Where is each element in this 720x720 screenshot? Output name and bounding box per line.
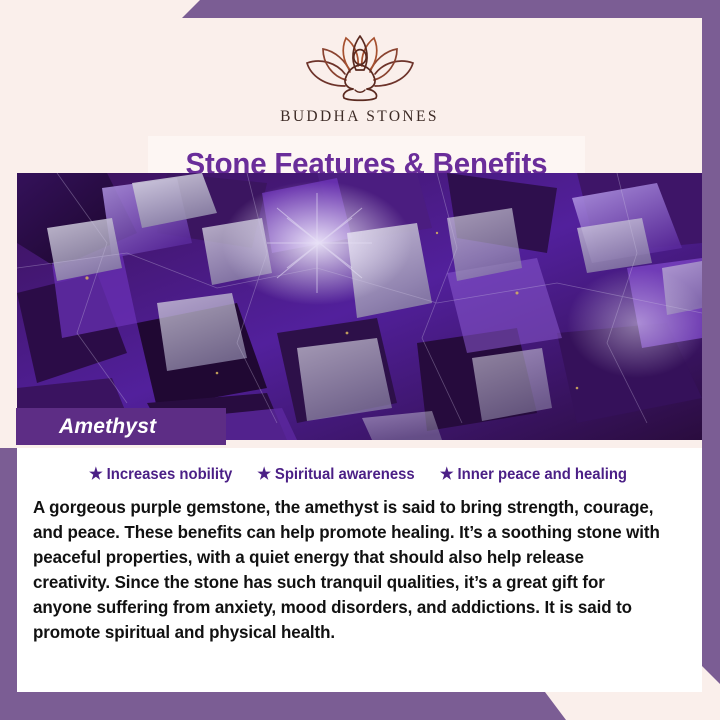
brand-logo: BUDDHA STONES	[17, 30, 702, 126]
benefit-label: Inner peace and healing	[457, 466, 627, 484]
benefits-list: ★ Increases nobility ★ Spiritual awarene…	[33, 458, 684, 484]
benefit-item: ★ Increases nobility	[89, 466, 232, 484]
decor-band-right	[702, 0, 720, 684]
stone-description: A gorgeous purple gemstone, the amethyst…	[33, 495, 661, 645]
decor-band-top	[0, 0, 720, 18]
benefit-item: ★ Inner peace and healing	[440, 466, 627, 484]
star-icon: ★	[440, 467, 454, 483]
benefit-label: Spiritual awareness	[275, 466, 415, 484]
brand-name: BUDDHA STONES	[280, 108, 439, 126]
header: BUDDHA STONES Stone Features & Benefits	[17, 18, 702, 173]
stone-info-card: BUDDHA STONES Stone Features & Benefits	[0, 0, 720, 720]
lotus-meditation-icon	[301, 30, 419, 102]
amethyst-crystal-cluster-graphic	[17, 173, 702, 440]
stone-details-card: ★ Increases nobility ★ Spiritual awarene…	[17, 448, 702, 692]
star-icon: ★	[89, 467, 103, 483]
stone-name-tag: Amethyst	[16, 408, 226, 445]
decor-band-bottom	[0, 692, 566, 720]
stone-name-label: Amethyst	[59, 415, 156, 439]
decor-band-left	[0, 448, 17, 692]
star-icon: ★	[257, 467, 271, 483]
amethyst-photo	[17, 173, 702, 440]
benefit-label: Increases nobility	[107, 466, 233, 484]
benefit-item: ★ Spiritual awareness	[257, 466, 414, 484]
